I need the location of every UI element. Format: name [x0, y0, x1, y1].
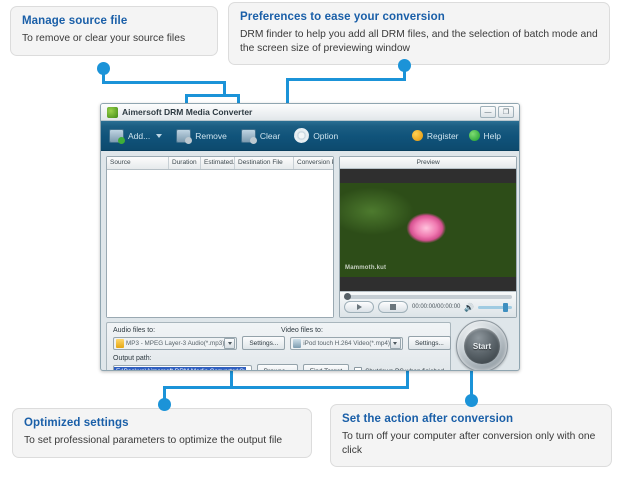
callout-title: Preferences to ease your conversion	[240, 11, 598, 23]
volume-handle[interactable]	[503, 303, 508, 312]
format-controls-row: MP3 - MPEG Layer-3 Audio(*.mp3) Settings…	[113, 336, 444, 350]
toolbar-button-remove[interactable]: Remove	[176, 129, 227, 143]
toolbar-label: Clear	[260, 131, 280, 141]
callout-body: To turn off your computer after conversi…	[342, 430, 600, 457]
browse-button[interactable]: Browse...	[257, 364, 298, 371]
connector-line	[403, 65, 406, 79]
video-format-icon	[293, 339, 301, 348]
toolbar-label: Add...	[128, 131, 150, 141]
start-button-inner: Start	[464, 328, 500, 364]
time-display: 00:00:00/00:00:00	[412, 304, 460, 310]
callout-body: DRM finder to help you add all DRM files…	[240, 28, 598, 55]
lower-section: Audio files to: Video files to: MP3 - MP…	[106, 322, 514, 371]
preview-watermark: Mammoth.kut	[345, 265, 386, 271]
upper-section: Source Duration Estimated... Destination…	[106, 156, 514, 318]
column-header-duration[interactable]: Duration	[169, 157, 201, 169]
start-button-label: Start	[473, 342, 491, 351]
app-body: Source Duration Estimated... Destination…	[101, 152, 519, 370]
column-header-conversion-progress[interactable]: Conversion Progress	[294, 157, 333, 169]
preview-screen[interactable]: Mammoth.kut	[340, 169, 516, 291]
callout-title: Optimized settings	[24, 417, 300, 429]
chevron-down-icon[interactable]	[156, 134, 162, 138]
audio-files-label: Audio files to:	[113, 327, 276, 334]
volume-slider[interactable]	[478, 306, 512, 309]
connector-line	[163, 386, 409, 389]
connector-line	[102, 81, 226, 84]
window-title: Aimersoft DRM Media Converter	[122, 107, 252, 117]
preview-controls: 00:00:00/00:00:00 🔊	[340, 291, 516, 317]
callout-title: Manage source file	[22, 15, 206, 27]
audio-format-value: MP3 - MPEG Layer-3 Audio(*.mp3)	[126, 340, 224, 347]
remove-folder-icon	[176, 129, 191, 143]
callout-preferences: Preferences to ease your conversion DRM …	[228, 2, 610, 65]
callout-title: Set the action after conversion	[342, 413, 600, 425]
audio-format-icon	[116, 339, 124, 348]
application-window: Aimersoft DRM Media Converter — ❐ Add...…	[100, 103, 520, 371]
toolbar-label: Option	[313, 131, 338, 141]
toolbar-button-help[interactable]: Help	[469, 130, 501, 141]
output-path-row: E:\Backup\Aimersoft DRM Media Converter\…	[113, 364, 444, 371]
connector-line	[102, 68, 105, 82]
toolbar-label: Register	[427, 131, 459, 141]
title-bar: Aimersoft DRM Media Converter — ❐	[101, 104, 519, 121]
toolbar: Add... Remove Clear Option Register	[101, 121, 519, 151]
callout-optimized-settings: Optimized settings To set professional p…	[12, 408, 312, 458]
preview-panel: Preview Mammoth.kut	[339, 156, 517, 318]
video-format-value: iPod touch H.264 Video(*.mp4)	[303, 340, 390, 347]
gear-icon	[294, 128, 309, 143]
column-header-destination-file[interactable]: Destination File	[235, 157, 294, 169]
connector-line	[223, 81, 226, 95]
column-header-source[interactable]: Source	[107, 157, 169, 169]
connector-line	[286, 78, 406, 81]
settings-panel: Audio files to: Video files to: MP3 - MP…	[106, 322, 451, 371]
toolbar-right-group: Register Help	[412, 130, 511, 141]
app-logo-icon	[107, 107, 118, 118]
help-icon	[469, 130, 480, 141]
toolbar-button-clear[interactable]: Clear	[241, 129, 280, 143]
stop-button[interactable]	[378, 301, 408, 313]
video-files-label: Video files to:	[281, 327, 444, 334]
video-settings-button[interactable]: Settings...	[408, 336, 451, 350]
transport-row: 00:00:00/00:00:00 🔊	[344, 301, 512, 313]
chevron-down-icon[interactable]	[390, 338, 401, 349]
shutdown-checkbox-group[interactable]: Shutdown PC when finished	[354, 367, 444, 371]
window-controls: — ❐	[480, 106, 516, 118]
callout-body: To set professional parameters to optimi…	[24, 434, 300, 448]
seek-handle[interactable]	[344, 293, 351, 300]
shutdown-checkbox[interactable]	[354, 367, 362, 371]
seek-slider[interactable]	[344, 295, 512, 299]
preview-video-frame	[340, 183, 516, 277]
screenshot-root: Manage source file To remove or clear yo…	[0, 0, 630, 480]
output-path-input[interactable]: E:\Backup\Aimersoft DRM Media Converter\…	[113, 365, 252, 372]
preview-header: Preview	[340, 157, 516, 169]
minimize-button[interactable]: —	[480, 106, 496, 118]
start-button-area: Start	[456, 320, 512, 371]
add-folder-icon	[109, 129, 124, 143]
callout-body: To remove or clear your source files	[22, 32, 206, 46]
start-button[interactable]: Start	[456, 320, 508, 371]
toolbar-button-option[interactable]: Option	[294, 128, 338, 143]
file-list[interactable]: Source Duration Estimated... Destination…	[106, 156, 334, 318]
stop-icon	[390, 304, 396, 310]
toolbar-label: Help	[484, 131, 501, 141]
output-path-label: Output path:	[113, 355, 444, 362]
shutdown-checkbox-label: Shutdown PC when finished	[365, 368, 444, 372]
toolbar-button-register[interactable]: Register	[412, 130, 459, 141]
callout-manage-source-file: Manage source file To remove or clear yo…	[10, 6, 218, 56]
audio-format-select[interactable]: MP3 - MPEG Layer-3 Audio(*.mp3)	[113, 337, 237, 350]
format-labels-row: Audio files to: Video files to:	[113, 327, 444, 336]
file-list-header: Source Duration Estimated... Destination…	[107, 157, 333, 170]
play-icon	[357, 304, 362, 310]
callout-action-after-conversion: Set the action after conversion To turn …	[330, 404, 612, 467]
audio-settings-button[interactable]: Settings...	[242, 336, 285, 350]
video-format-select[interactable]: iPod touch H.264 Video(*.mp4)	[290, 337, 403, 350]
toolbar-button-add[interactable]: Add...	[109, 129, 162, 143]
video-group: iPod touch H.264 Video(*.mp4) Settings..…	[290, 336, 451, 350]
register-icon	[412, 130, 423, 141]
column-header-estimated[interactable]: Estimated...	[201, 157, 235, 169]
clear-folder-icon	[241, 129, 256, 143]
connector-line	[185, 94, 240, 97]
restore-button[interactable]: ❐	[498, 106, 514, 118]
audio-group: MP3 - MPEG Layer-3 Audio(*.mp3) Settings…	[113, 336, 285, 350]
speaker-icon[interactable]: 🔊	[464, 303, 474, 312]
toolbar-label: Remove	[195, 131, 227, 141]
find-target-button[interactable]: Find Target	[303, 364, 349, 371]
file-list-rows[interactable]	[107, 170, 333, 317]
chevron-down-icon[interactable]	[224, 338, 235, 349]
output-path-value: E:\Backup\Aimersoft DRM Media Converter\…	[114, 367, 246, 372]
play-button[interactable]	[344, 301, 374, 313]
chevron-down-icon[interactable]	[246, 365, 250, 372]
